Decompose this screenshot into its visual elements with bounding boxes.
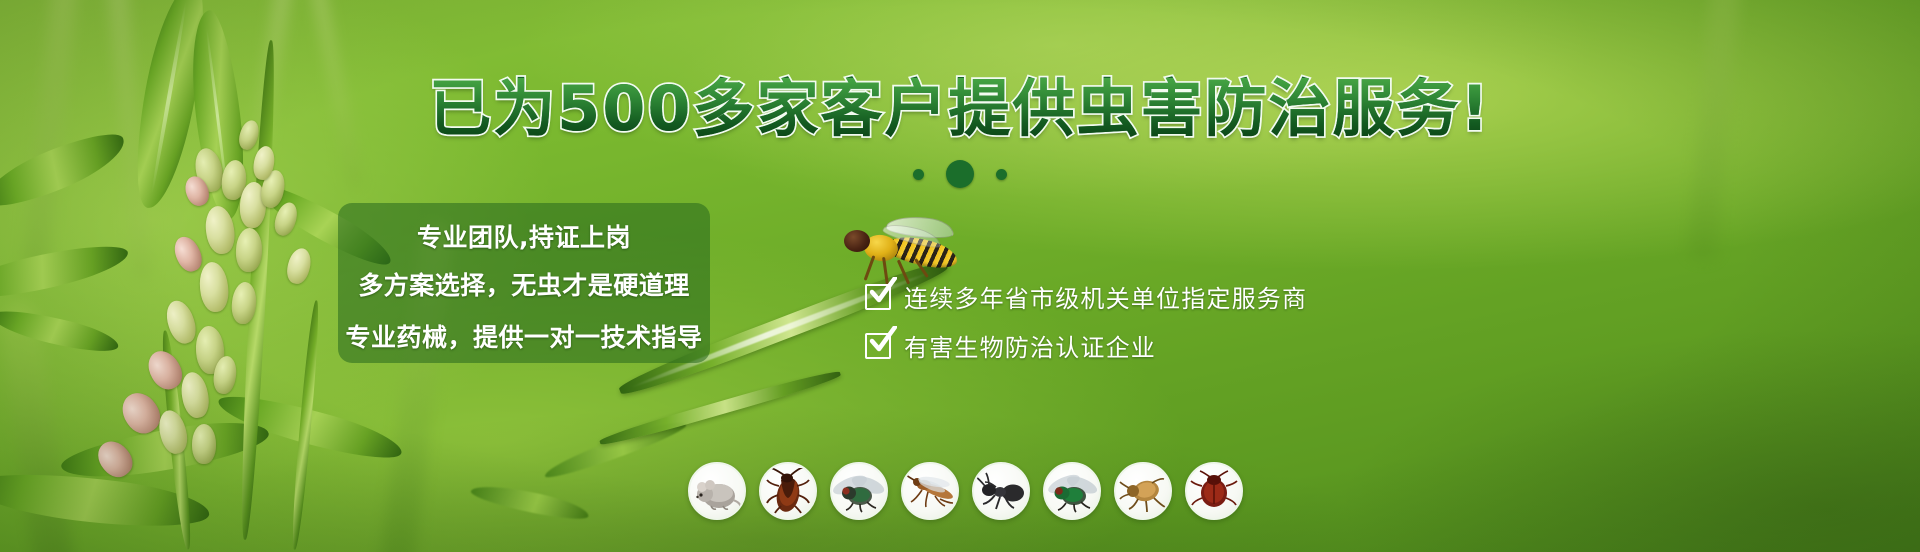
checklist-item-label: 连续多年省市级机关单位指定服务商 bbox=[904, 279, 1307, 314]
mosquito-icon[interactable] bbox=[901, 462, 959, 520]
checklist-item: 连续多年省市级机关单位指定服务商 bbox=[865, 272, 1295, 321]
green-bottle-fly-icon[interactable] bbox=[1043, 462, 1101, 520]
cockroach-icon[interactable] bbox=[759, 462, 817, 520]
feature-line-1: 专业团队,持证上岗 bbox=[338, 216, 710, 260]
dot-small-right bbox=[996, 169, 1007, 180]
feature-highlight-box: 专业团队,持证上岗 多方案选择，无虫才是硬道理 专业药械，提供一对一技术指导 bbox=[338, 203, 710, 363]
checklist-item-label: 有害生物防治认证企业 bbox=[904, 328, 1156, 363]
dot-medium-center bbox=[946, 160, 974, 188]
headline-group: 已为500多家客户提供虫害防治服务! 已为500多家客户提供虫害防治服务! 已为… bbox=[0, 78, 1920, 158]
flea-icon[interactable] bbox=[1114, 462, 1172, 520]
bedbug-icon[interactable] bbox=[1185, 462, 1243, 520]
pest-control-banner: 已为500多家客户提供虫害防治服务! 已为500多家客户提供虫害防治服务! 已为… bbox=[0, 0, 1920, 552]
checkbox-checked-icon bbox=[865, 333, 891, 359]
pest-icon-strip bbox=[688, 462, 1243, 520]
checklist-item: 有害生物防治认证企业 bbox=[865, 321, 1295, 370]
feature-line-3: 专业药械，提供一对一技术指导 bbox=[338, 312, 710, 364]
dot-small-left bbox=[913, 169, 924, 180]
housefly-icon[interactable] bbox=[830, 462, 888, 520]
decorative-dots bbox=[0, 160, 1920, 188]
ant-icon[interactable] bbox=[972, 462, 1030, 520]
checkbox-checked-icon bbox=[865, 284, 891, 310]
checklist: 连续多年省市级机关单位指定服务商 有害生物防治认证企业 bbox=[865, 272, 1295, 370]
mouse-icon[interactable] bbox=[688, 462, 746, 520]
page-title: 已为500多家客户提供虫害防治服务! bbox=[0, 78, 1920, 140]
feature-line-2: 多方案选择，无虫才是硬道理 bbox=[338, 260, 710, 312]
